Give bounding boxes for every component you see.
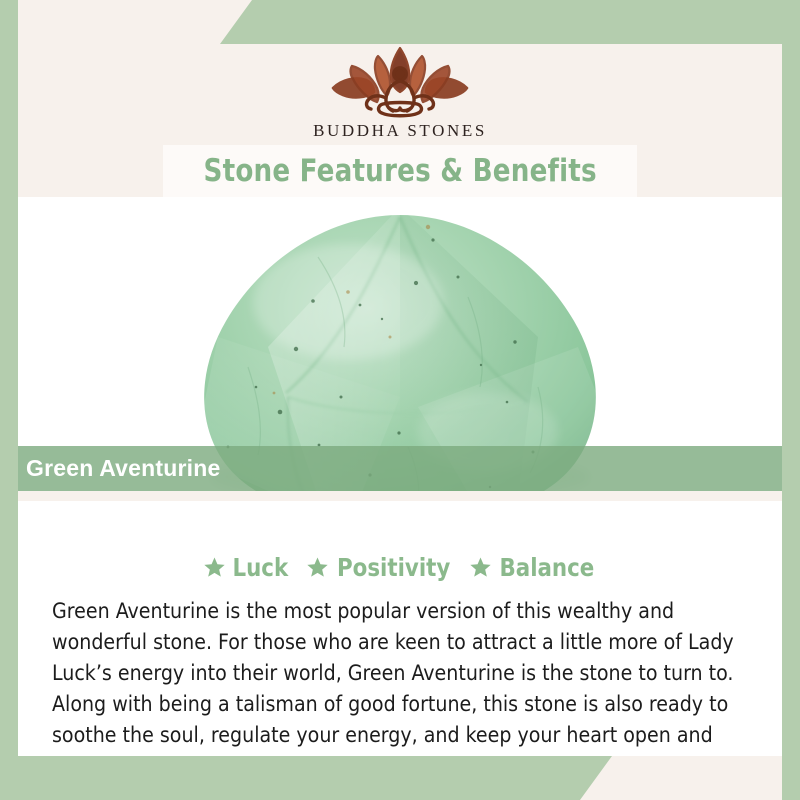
benefit-item: Positivity (306, 553, 453, 582)
product-info-card: BUDDHA STONES Stone Features & Benefits (0, 0, 800, 800)
star-icon (469, 556, 492, 579)
brand-logo: BUDDHA STONES (18, 44, 782, 148)
card-canvas: BUDDHA STONES Stone Features & Benefits (18, 44, 782, 756)
lotus-meditating-figure-icon (325, 46, 475, 120)
benefit-item: Luck (203, 553, 290, 582)
stone-details: Luck Positivity Balance Green Aventurine… (18, 491, 782, 756)
star-icon (306, 556, 329, 579)
benefit-label: Balance (500, 553, 595, 582)
stone-description: Green Aventurine is the most popular ver… (52, 596, 743, 756)
section-title-banner: Stone Features & Benefits (163, 145, 637, 197)
benefits-list: Luck Positivity Balance (18, 553, 782, 582)
stone-name-band: Green Aventurine (18, 446, 782, 491)
benefit-label: Positivity (337, 553, 450, 582)
page-title: Stone Features & Benefits (203, 153, 596, 189)
benefit-item: Balance (469, 553, 597, 582)
brand-wordmark: BUDDHA STONES (313, 121, 487, 141)
benefit-label: Luck (233, 553, 289, 582)
star-icon (203, 556, 226, 579)
stone-name: Green Aventurine (26, 455, 221, 482)
